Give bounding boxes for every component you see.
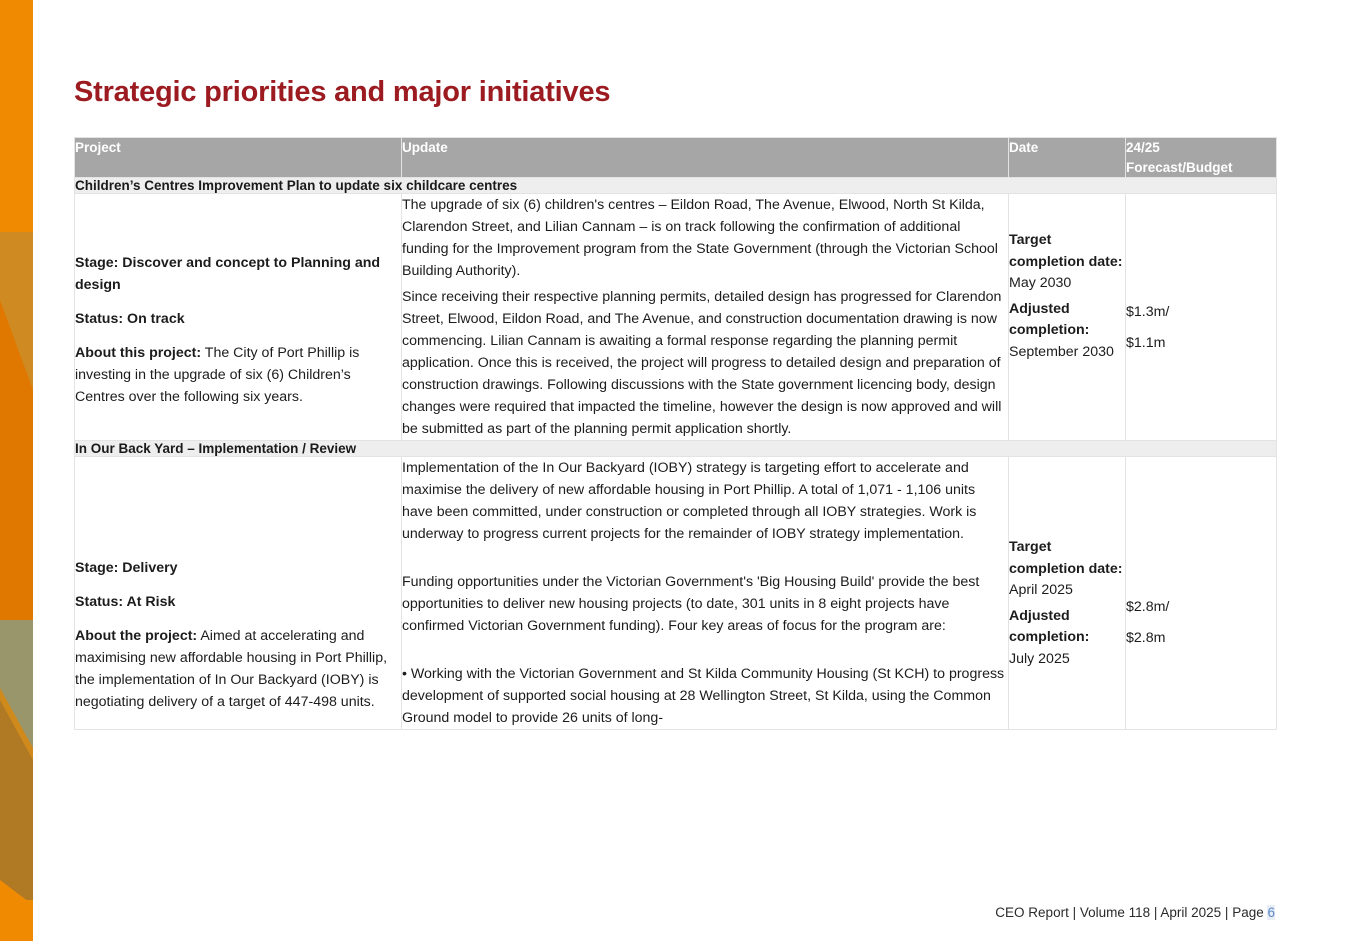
project-cell: Stage: Delivery Status: At Risk About th…	[75, 457, 402, 730]
table-row: Stage: Discover and concept to Planning …	[75, 194, 1277, 441]
adjusted-completion-label: Adjusted completion:	[1009, 299, 1125, 342]
project-stage: Stage: Delivery	[75, 557, 401, 579]
adjusted-completion-value: September 2030	[1009, 342, 1125, 364]
page-title: Strategic priorities and major initiativ…	[74, 76, 610, 109]
stage-value: Discover and concept to Planning and des…	[75, 255, 380, 293]
target-completion-value: May 2030	[1009, 273, 1125, 295]
status-label: Status:	[75, 594, 123, 610]
update-paragraph: The upgrade of six (6) children's centre…	[402, 194, 1008, 282]
column-header-forecast-budget-line1: 24/25	[1126, 140, 1160, 155]
table-header-row: Project Update Date 24/25 Forecast/Budge…	[75, 138, 1277, 178]
footer-page-number: 6	[1267, 905, 1275, 920]
project-stage: Stage: Discover and concept to Planning …	[75, 252, 401, 296]
decorative-sidebar-graphic	[0, 0, 33, 941]
update-paragraph: Implementation of the In Our Backyard (I…	[402, 457, 1008, 545]
status-value: At Risk	[123, 594, 175, 610]
spacer	[402, 649, 1008, 663]
date-cell: Target completion date: May 2030 Adjuste…	[1009, 194, 1126, 441]
stage-label: Stage:	[75, 560, 118, 576]
update-paragraph: Since receiving their respective plannin…	[402, 286, 1008, 440]
project-status: Status: At Risk	[75, 591, 401, 613]
table-row: Stage: Delivery Status: At Risk About th…	[75, 457, 1277, 730]
page-footer: CEO Report | Volume 118 | April 2025 | P…	[995, 905, 1275, 920]
column-header-date: Date	[1009, 138, 1126, 178]
budget-value: $2.8m	[1126, 628, 1276, 649]
section-header-row: Children’s Centres Improvement Plan to u…	[75, 178, 1277, 194]
adjusted-completion-label: Adjusted completion:	[1009, 606, 1125, 649]
budget-cell: $2.8m/ $2.8m	[1126, 457, 1277, 730]
forecast-value: $1.3m/	[1126, 302, 1276, 323]
stage-value: Delivery	[118, 560, 177, 576]
adjusted-completion-value: July 2025	[1009, 649, 1125, 671]
column-header-update: Update	[402, 138, 1009, 178]
update-cell: The upgrade of six (6) children's centre…	[402, 194, 1009, 441]
spacer	[1009, 194, 1125, 230]
spacer	[1009, 457, 1125, 537]
spacer	[402, 557, 1008, 571]
update-bullet: • Working with the Victorian Government …	[402, 663, 1008, 729]
update-paragraph: Funding opportunities under the Victoria…	[402, 571, 1008, 637]
target-completion-label: Target completion date:	[1009, 230, 1125, 273]
spacer	[1126, 457, 1276, 597]
status-label: Status:	[75, 311, 123, 327]
budget-cell: $1.3m/ $1.1m	[1126, 194, 1277, 441]
project-cell: Stage: Discover and concept to Planning …	[75, 194, 402, 441]
spacer	[75, 457, 401, 557]
project-about: About this project: The City of Port Phi…	[75, 342, 401, 408]
column-header-forecast-budget-line2: Forecast/Budget	[1126, 160, 1233, 175]
status-value: On track	[123, 311, 185, 327]
initiatives-table: Project Update Date 24/25 Forecast/Budge…	[74, 137, 1277, 730]
column-header-forecast-budget: 24/25 Forecast/Budget	[1126, 138, 1277, 178]
target-completion-label: Target completion date:	[1009, 537, 1125, 580]
project-status: Status: On track	[75, 308, 401, 330]
budget-value: $1.1m	[1126, 333, 1276, 354]
spacer	[75, 194, 401, 252]
section-title: Children’s Centres Improvement Plan to u…	[75, 178, 1277, 194]
about-label: About the project:	[75, 628, 197, 644]
spacer	[1126, 194, 1276, 302]
table-header: Project Update Date 24/25 Forecast/Budge…	[75, 138, 1277, 178]
about-label: About this project:	[75, 345, 201, 361]
section-title: In Our Back Yard – Implementation / Revi…	[75, 441, 1277, 457]
date-cell: Target completion date: April 2025 Adjus…	[1009, 457, 1126, 730]
section-header-row: In Our Back Yard – Implementation / Revi…	[75, 441, 1277, 457]
document-page: Strategic priorities and major initiativ…	[0, 0, 1347, 941]
footer-text: CEO Report | Volume 118 | April 2025 | P…	[995, 905, 1267, 920]
stage-label: Stage:	[75, 255, 118, 271]
update-cell: Implementation of the In Our Backyard (I…	[402, 457, 1009, 730]
target-completion-value: April 2025	[1009, 580, 1125, 602]
column-header-project: Project	[75, 138, 402, 178]
project-about: About the project: Aimed at accelerating…	[75, 625, 401, 713]
forecast-value: $2.8m/	[1126, 597, 1276, 618]
